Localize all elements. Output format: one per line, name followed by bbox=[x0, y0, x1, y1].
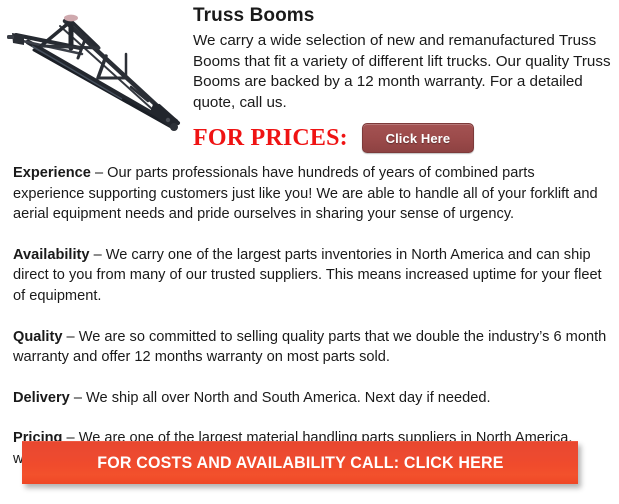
feature-term: Quality bbox=[13, 329, 62, 345]
feature-term: Experience bbox=[13, 165, 91, 181]
feature-text: We ship all over North and South America… bbox=[86, 390, 491, 406]
feature-separator: – bbox=[62, 329, 78, 345]
cta-banner-label: FOR COSTS AND AVAILABILITY CALL: CLICK H… bbox=[97, 454, 503, 473]
page-title: Truss Booms bbox=[193, 5, 314, 27]
feature-term: Delivery bbox=[13, 390, 70, 406]
product-header-section: Truss Booms We carry a wide selection of… bbox=[0, 0, 619, 158]
feature-paragraph: Quality – We are so committed to selling… bbox=[13, 327, 607, 368]
truss-boom-product-image bbox=[2, 2, 188, 152]
feature-paragraph: Availability – We carry one of the large… bbox=[13, 245, 607, 307]
price-cta-row: FOR PRICES: Click Here bbox=[193, 120, 474, 156]
feature-term: Availability bbox=[13, 247, 90, 263]
feature-paragraph: Delivery – We ship all over North and So… bbox=[13, 388, 607, 409]
for-prices-label: FOR PRICES: bbox=[193, 125, 348, 151]
click-here-button-label: Click Here bbox=[386, 131, 451, 146]
product-description: We carry a wide selection of new and rem… bbox=[193, 31, 613, 113]
click-here-button[interactable]: Click Here bbox=[362, 123, 474, 153]
feature-list: Experience – Our parts professionals hav… bbox=[13, 163, 607, 470]
feature-separator: – bbox=[70, 390, 86, 406]
feature-text: We are so committed to selling quality p… bbox=[13, 329, 606, 366]
feature-paragraph: Experience – Our parts professionals hav… bbox=[13, 163, 607, 225]
costs-availability-call-banner[interactable]: FOR COSTS AND AVAILABILITY CALL: CLICK H… bbox=[22, 441, 578, 484]
feature-separator: – bbox=[90, 247, 106, 263]
feature-separator: – bbox=[91, 165, 107, 181]
